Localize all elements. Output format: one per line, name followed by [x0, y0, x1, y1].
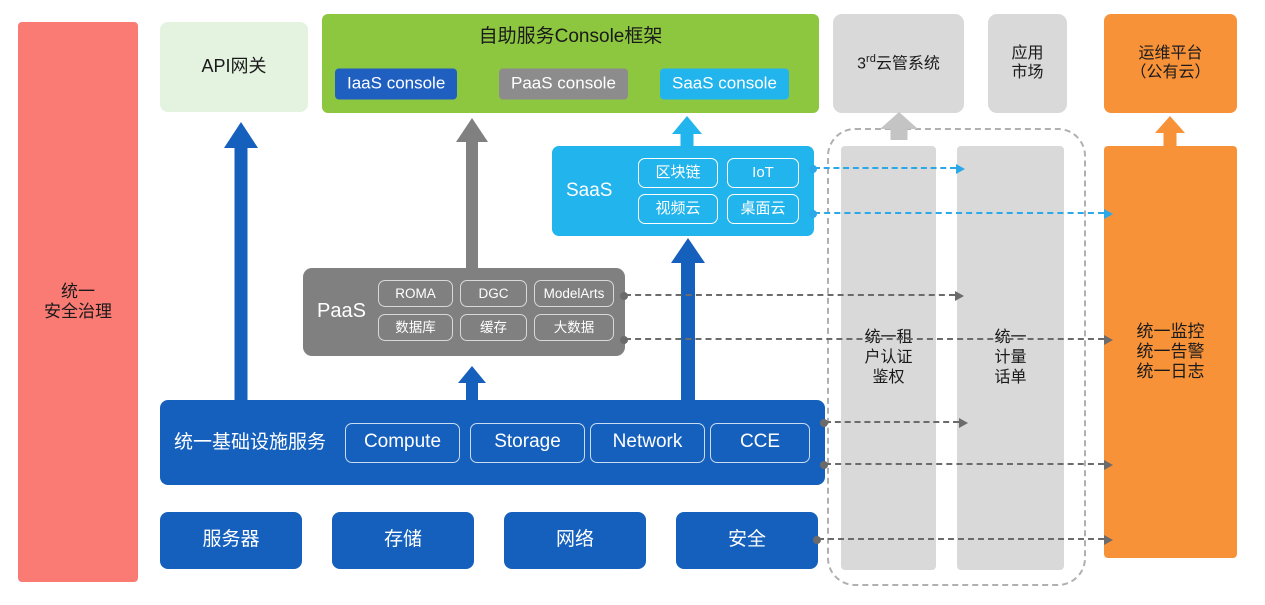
saas-service-label: 区块链: [655, 164, 700, 182]
infra-service-network[interactable]: Network: [590, 423, 705, 463]
arrow-ops-body-to-ops-top: [1155, 116, 1185, 146]
connector-paas-to-auth: [625, 294, 955, 296]
infra-service-label: CCE: [740, 431, 780, 453]
connector-arrowhead: [955, 291, 964, 301]
connector-arrowhead: [959, 418, 968, 428]
connector-foundation-to-ops: [818, 538, 1104, 540]
arrow-paas-to-console: [456, 118, 488, 270]
api-gateway-box: API网关: [160, 22, 308, 112]
connector-saas-to-ops: [814, 212, 1104, 214]
connector-dot: [809, 165, 817, 173]
self-service-console-frame: 自助服务Console框架 IaaS console PaaS console …: [322, 14, 819, 113]
ops-platform-box: 运维平台 （公有云）: [1104, 14, 1237, 113]
infra-service-label: Compute: [364, 431, 441, 453]
iaas-console-label: IaaS console: [347, 74, 445, 94]
foundation-label: 安全: [728, 529, 766, 551]
saas-layer-label: SaaS: [566, 180, 612, 202]
arrow-infra-to-api-gateway: [224, 122, 258, 402]
connector-arrowhead: [1104, 335, 1113, 345]
saas-layer-box: SaaS 区块链 IoT 视频云 桌面云: [552, 146, 814, 236]
foundation-box-storage[interactable]: 存储: [332, 512, 474, 569]
paas-service-dgc[interactable]: DGC: [460, 280, 527, 307]
arrow-shared-to-third-party: [880, 112, 918, 140]
app-market-label: 应用 市场: [1011, 45, 1043, 83]
foundation-box-network[interactable]: 网络: [504, 512, 646, 569]
saas-service-blockchain[interactable]: 区块链: [638, 158, 718, 188]
saas-service-video-cloud[interactable]: 视频云: [638, 194, 718, 224]
foundation-label: 存储: [384, 529, 422, 551]
unified-security-governance-label: 统一 安全治理: [44, 282, 112, 322]
connector-arrowhead: [1104, 209, 1113, 219]
architecture-diagram: 统一 安全治理 API网关 自助服务Console框架 IaaS console…: [0, 0, 1265, 605]
infra-service-label: Network: [613, 431, 683, 453]
infra-service-cce[interactable]: CCE: [710, 423, 810, 463]
infra-service-storage[interactable]: Storage: [470, 423, 585, 463]
foundation-box-security[interactable]: 安全: [676, 512, 818, 569]
unified-metering-label: 统一 计量 话单: [994, 328, 1026, 388]
third-party-cloud-mgmt-label: 3rd云管系统: [857, 53, 940, 74]
paas-service-label: ROMA: [395, 286, 436, 302]
saas-console-label: SaaS console: [672, 74, 777, 94]
saas-service-label: IoT: [752, 164, 774, 182]
saas-service-desktop-cloud[interactable]: 桌面云: [727, 194, 799, 224]
paas-service-roma[interactable]: ROMA: [378, 280, 453, 307]
connector-dot: [820, 461, 828, 469]
app-market-box: 应用 市场: [988, 14, 1067, 113]
unified-tenant-auth-label: 统一租 户认证 鉴权: [864, 328, 912, 388]
connector-arrowhead: [1104, 535, 1113, 545]
saas-service-iot[interactable]: IoT: [727, 158, 799, 188]
paas-service-label: 数据库: [395, 320, 436, 336]
arrow-saas-to-console: [672, 116, 702, 148]
infra-service-compute[interactable]: Compute: [345, 423, 460, 463]
saas-service-label: 视频云: [655, 200, 700, 218]
paas-service-database[interactable]: 数据库: [378, 314, 453, 341]
iaas-console-chip[interactable]: IaaS console: [335, 69, 457, 100]
connector-dot: [620, 292, 628, 300]
foundation-label: 服务器: [202, 529, 259, 551]
connector-infra-to-ops: [825, 463, 1104, 465]
unified-security-governance-panel: 统一 安全治理: [18, 22, 138, 582]
connector-dot: [813, 536, 821, 544]
paas-console-label: PaaS console: [511, 74, 616, 94]
unified-metering-column: 统一 计量 话单: [957, 146, 1064, 570]
connector-dot: [809, 210, 817, 218]
ops-platform-body: 统一监控 统一告警 统一日志: [1104, 146, 1237, 558]
paas-service-cache[interactable]: 缓存: [460, 314, 527, 341]
paas-service-label: 大数据: [554, 320, 595, 336]
connector-arrowhead: [1104, 460, 1113, 470]
api-gateway-label: API网关: [201, 56, 266, 77]
unified-infrastructure-service-box: 统一基础设施服务 Compute Storage Network CCE: [160, 400, 825, 485]
connector-dot: [620, 336, 628, 344]
connector-dot: [820, 419, 828, 427]
paas-service-modelarts[interactable]: ModelArts: [534, 280, 614, 307]
third-party-cloud-mgmt-box: 3rd云管系统: [833, 14, 964, 113]
paas-layer-label: PaaS: [317, 300, 366, 324]
connector-arrowhead: [956, 164, 965, 174]
saas-service-label: 桌面云: [740, 200, 785, 218]
connector-paas-to-ops: [625, 338, 1104, 340]
paas-console-chip[interactable]: PaaS console: [499, 69, 628, 100]
paas-service-label: 缓存: [480, 320, 507, 336]
saas-console-chip[interactable]: SaaS console: [660, 69, 789, 100]
infra-service-label: Storage: [494, 431, 561, 453]
foundation-label: 网络: [556, 529, 594, 551]
paas-service-bigdata[interactable]: 大数据: [534, 314, 614, 341]
paas-service-label: ModelArts: [544, 286, 605, 302]
paas-service-label: DGC: [479, 286, 509, 302]
ops-platform-body-label: 统一监控 统一告警 统一日志: [1137, 322, 1205, 382]
console-frame-title: 自助服务Console框架: [322, 26, 819, 48]
third-party-superscript: rd: [866, 53, 876, 65]
connector-saas-to-metering: [814, 167, 956, 169]
unified-infrastructure-service-label: 统一基础设施服务: [174, 431, 326, 453]
arrow-infra-to-paas: [458, 366, 486, 402]
unified-tenant-auth-column: 统一租 户认证 鉴权: [841, 146, 936, 570]
paas-layer-box: PaaS ROMA DGC ModelArts 数据库 缓存 大数据: [303, 268, 625, 356]
connector-infra-to-auth: [825, 421, 959, 423]
foundation-box-server[interactable]: 服务器: [160, 512, 302, 569]
ops-platform-label: 运维平台 （公有云）: [1130, 45, 1210, 83]
arrow-infra-to-saas: [671, 238, 705, 402]
